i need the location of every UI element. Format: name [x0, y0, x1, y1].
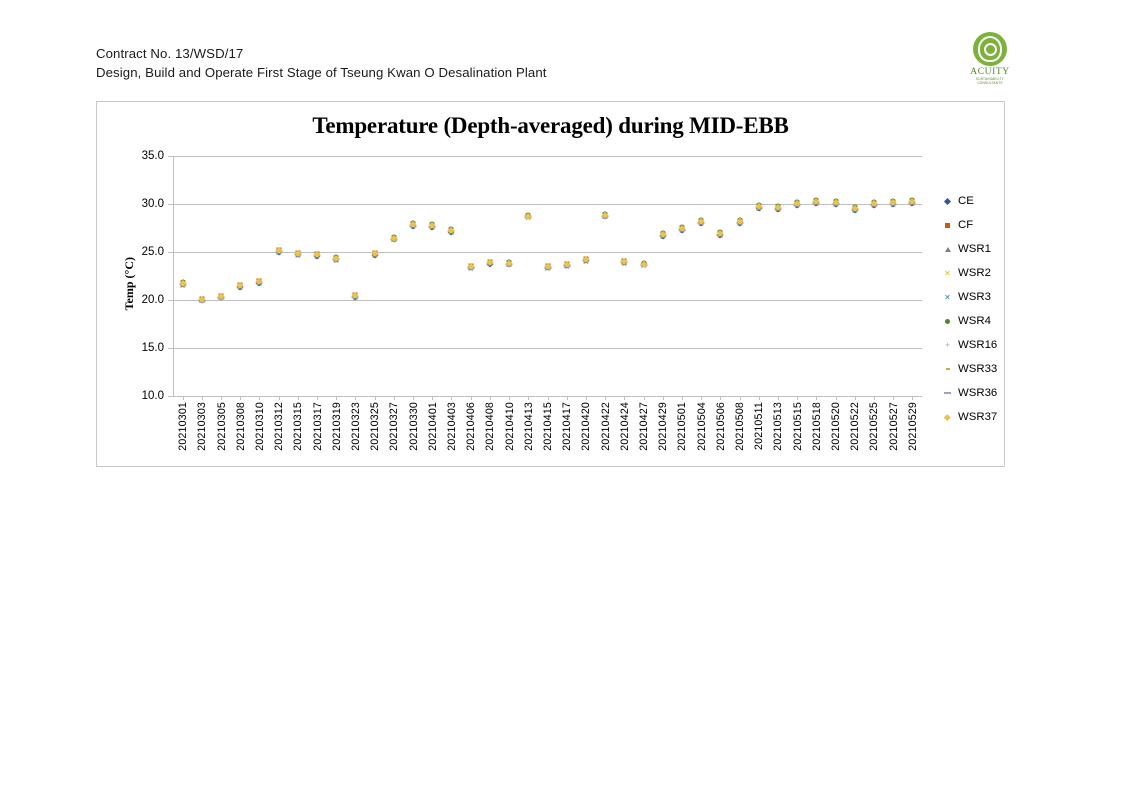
y-axis-tick-label: 20.0 [142, 294, 164, 306]
data-point: ✕ [678, 226, 685, 233]
data-point [641, 260, 646, 265]
x-axis-tick-label: 20210301 [177, 402, 189, 451]
legend-item-label: WSR16 [958, 339, 997, 351]
x-axis-tick [605, 396, 606, 400]
data-point: ✕ [774, 205, 781, 212]
x-axis-tick-label: 20210515 [792, 402, 804, 451]
data-point [314, 252, 320, 257]
x-axis-tick [816, 396, 817, 400]
data-point [640, 265, 647, 267]
data-point [429, 224, 435, 229]
data-point [238, 285, 242, 287]
x-axis-tick-label: 20210312 [273, 402, 285, 451]
data-point: ✕ [294, 252, 301, 259]
data-point: + [851, 205, 858, 212]
x-axis-tick-label: 20210415 [542, 402, 554, 451]
data-point [449, 229, 453, 231]
data-point [506, 264, 513, 266]
x-axis-tick [548, 396, 549, 400]
data-point [353, 295, 357, 297]
data-point [506, 260, 513, 267]
x-axis-tick [893, 396, 894, 400]
data-point: ✕ [582, 258, 589, 265]
y-axis-tick [168, 300, 173, 301]
x-axis-tick [509, 396, 510, 400]
legend-marker-icon: ✕ [942, 292, 953, 303]
x-axis-tick-label: 20210403 [446, 402, 458, 451]
data-point [256, 278, 262, 284]
data-point [219, 294, 224, 299]
data-point: ✕ [371, 252, 378, 259]
data-point [621, 257, 627, 263]
y-axis-title: Temp (°C) [122, 257, 137, 310]
data-point [660, 231, 665, 236]
data-point [814, 200, 818, 202]
data-point [468, 265, 474, 270]
data-point: ✕ [314, 252, 321, 259]
data-point: ✕ [525, 214, 532, 221]
data-point: ✕ [486, 261, 493, 268]
x-axis-tick-label: 20210325 [369, 402, 381, 451]
x-axis-tick-label: 20210504 [696, 402, 708, 451]
data-point [352, 296, 359, 298]
data-point: + [621, 258, 628, 265]
data-point [486, 263, 493, 265]
data-point: ✕ [506, 262, 513, 269]
data-point: ✕ [467, 266, 474, 273]
data-point [333, 255, 340, 262]
data-point [525, 212, 531, 218]
legend-item-wsr33[interactable]: WSR33 [942, 357, 1002, 381]
data-point [546, 267, 550, 269]
legend-marker-icon: ✕ [942, 268, 953, 279]
data-point [545, 264, 550, 269]
data-point: ✕ [563, 263, 570, 270]
data-point: + [506, 260, 513, 267]
x-axis-tick [451, 396, 452, 400]
data-point [449, 226, 454, 231]
data-point: + [333, 255, 340, 262]
data-point: + [467, 264, 474, 271]
logo-wordmark: ACUITY [966, 67, 1014, 77]
data-point [333, 259, 340, 261]
data-point [469, 267, 473, 269]
gridline [173, 300, 922, 301]
legend-marker-icon [942, 364, 953, 375]
data-point [603, 214, 607, 216]
data-point [736, 218, 742, 224]
data-point [315, 254, 319, 256]
data-point [487, 259, 492, 264]
x-axis-tick-label: 20210305 [216, 402, 228, 451]
data-point [776, 206, 780, 208]
data-point [814, 198, 819, 203]
x-axis-tick-label: 20210417 [561, 402, 573, 451]
data-point: ✕ [333, 256, 340, 263]
data-point [179, 284, 186, 286]
y-axis-line [173, 156, 174, 396]
data-point [333, 255, 339, 261]
x-axis-tick [259, 396, 260, 400]
data-point [737, 220, 743, 225]
data-point: + [563, 262, 570, 269]
data-point: ✕ [314, 253, 321, 260]
data-point: ✕ [602, 214, 609, 221]
data-point [622, 258, 627, 263]
data-point [699, 218, 704, 223]
x-axis-tick-label: 20210330 [408, 402, 420, 451]
data-point [640, 261, 647, 268]
data-point [487, 258, 493, 264]
x-axis-tick [644, 396, 645, 400]
data-point: ✕ [429, 225, 436, 232]
data-point: ✕ [717, 231, 724, 238]
data-point [678, 229, 685, 231]
data-point: ✕ [774, 206, 781, 213]
y-axis-tick-label: 15.0 [142, 342, 164, 354]
data-point [218, 295, 224, 300]
data-point [544, 268, 551, 270]
data-point [391, 236, 397, 241]
legend-marker-icon [942, 316, 953, 327]
data-point [544, 263, 550, 269]
data-point [218, 297, 225, 299]
data-point: + [736, 219, 743, 226]
data-point: ✕ [755, 204, 762, 211]
data-point [353, 293, 358, 298]
data-point [910, 198, 915, 203]
x-axis-tick [413, 396, 414, 400]
data-point [661, 233, 665, 235]
data-point [238, 282, 243, 287]
acuity-logo: ACUITY SUSTAINABILITY CONSULTANTS [966, 32, 1014, 82]
x-axis-tick [375, 396, 376, 400]
data-point [257, 278, 262, 283]
x-axis-tick-label: 20210518 [811, 402, 823, 451]
data-point [390, 239, 397, 241]
data-point: ✕ [256, 280, 263, 287]
data-point: + [602, 212, 609, 219]
x-axis-tick-label: 20210424 [619, 402, 631, 451]
data-point [333, 256, 339, 261]
data-point [755, 204, 762, 211]
data-point [853, 207, 857, 209]
data-point [603, 212, 608, 217]
data-point [371, 254, 378, 256]
data-point [180, 280, 185, 285]
data-point [237, 286, 244, 288]
data-point [219, 296, 223, 298]
data-point [564, 262, 569, 267]
data-point: ✕ [851, 207, 858, 214]
data-point: + [237, 282, 244, 289]
y-axis-tick [168, 396, 173, 397]
data-point [314, 255, 321, 257]
data-point [641, 262, 647, 267]
legend-item-wsr4[interactable]: WSR4 [942, 309, 1002, 333]
data-point: ✕ [736, 220, 743, 227]
contract-number-line: Contract No. 13/WSD/17 [96, 44, 547, 63]
gridline [173, 204, 922, 205]
data-point [218, 293, 224, 299]
x-axis-tick-label: 20210427 [638, 402, 650, 451]
x-axis-tick-label: 20210308 [235, 402, 247, 451]
x-axis-tick-label: 20210506 [715, 402, 727, 451]
data-point [736, 222, 743, 224]
data-point: ✕ [333, 257, 340, 264]
data-point [525, 214, 531, 219]
y-axis-tick-label: 35.0 [142, 150, 164, 162]
x-axis-tick-label: 20210319 [331, 402, 343, 451]
y-axis-tick-label: 25.0 [142, 246, 164, 258]
data-point [313, 252, 320, 259]
data-point [851, 206, 858, 213]
legend-item-label: CF [958, 219, 973, 231]
data-point [698, 220, 705, 227]
data-point [834, 201, 838, 203]
data-point [891, 201, 895, 203]
data-point [698, 220, 704, 225]
data-point: ✕ [179, 282, 186, 289]
data-point [238, 282, 243, 287]
x-axis-tick-label: 20210429 [657, 402, 669, 451]
legend-item-label: WSR1 [958, 243, 991, 255]
data-point [583, 256, 588, 261]
x-axis-tick [490, 396, 491, 400]
x-axis-tick [567, 396, 568, 400]
data-point [698, 222, 705, 224]
x-axis-tick [221, 396, 222, 400]
data-point [659, 235, 666, 237]
gridline [173, 252, 922, 253]
data-point [736, 220, 743, 227]
data-point: ✕ [486, 260, 493, 267]
data-point [737, 218, 742, 223]
data-point [487, 259, 492, 264]
x-axis-tick [202, 396, 203, 400]
data-point: + [179, 280, 186, 287]
data-point [737, 219, 742, 224]
data-point [448, 231, 455, 233]
data-point [660, 230, 665, 235]
data-point [468, 264, 473, 269]
x-axis-tick [912, 396, 913, 400]
data-point: + [256, 278, 263, 285]
data-point [699, 220, 703, 222]
data-point [660, 231, 666, 237]
legend-item-wsr37[interactable]: WSR37 [942, 405, 1002, 429]
x-axis-tick [663, 396, 664, 400]
x-axis-tick-label: 20210401 [427, 402, 439, 451]
data-point [373, 253, 377, 255]
legend-item-wsr2[interactable]: ✕WSR2 [942, 261, 1002, 285]
data-point [584, 259, 588, 261]
x-axis-tick [740, 396, 741, 400]
legend-item-label: WSR33 [958, 363, 997, 375]
project-title-line: Design, Build and Operate First Stage of… [96, 63, 547, 82]
data-point [602, 211, 608, 217]
chart-container: Temperature (Depth-averaged) during MID-… [96, 101, 1005, 467]
legend-marker-icon [942, 244, 953, 255]
legend-item-wsr3[interactable]: ✕WSR3 [942, 285, 1002, 309]
data-point [411, 222, 416, 227]
x-axis-tick-label: 20210422 [600, 402, 612, 451]
x-axis-tick [528, 396, 529, 400]
data-point [429, 223, 436, 230]
data-point [699, 219, 704, 224]
data-point [411, 221, 416, 226]
data-point [257, 278, 262, 283]
x-axis-tick [355, 396, 356, 400]
data-point: ✕ [621, 260, 628, 267]
data-point [851, 209, 858, 211]
x-axis-tick-label: 20210303 [196, 402, 208, 451]
data-point: ✕ [410, 224, 417, 231]
data-point [564, 262, 569, 267]
data-point: + [640, 261, 647, 268]
data-point [660, 232, 666, 237]
x-axis-tick-label: 20210527 [888, 402, 900, 451]
legend-item-wsr36[interactable]: WSR36 [942, 381, 1002, 405]
x-axis-tick [797, 396, 798, 400]
gridline [173, 156, 922, 157]
x-axis-tick-label: 20210511 [753, 402, 765, 450]
data-point [391, 234, 396, 239]
data-point [256, 279, 262, 284]
data-point [525, 213, 532, 220]
data-point: ✕ [467, 265, 474, 272]
x-axis-tick-label: 20210323 [350, 402, 362, 451]
x-axis-tick [240, 396, 241, 400]
x-axis-tick [279, 396, 280, 400]
x-axis-tick [874, 396, 875, 400]
x-axis-tick-label: 20210327 [388, 402, 400, 451]
legend-item-cf[interactable]: CF [942, 213, 1002, 237]
legend-item-wsr1[interactable]: WSR1 [942, 237, 1002, 261]
data-point [680, 227, 684, 229]
data-point [775, 204, 780, 209]
data-point [334, 257, 338, 259]
data-point [621, 262, 628, 264]
data-point: ✕ [256, 279, 263, 286]
data-point: ✕ [678, 227, 685, 234]
x-axis-tick [759, 396, 760, 400]
y-axis-tick-label: 30.0 [142, 198, 164, 210]
data-point: ✕ [448, 228, 455, 235]
data-point [738, 220, 742, 222]
legend-item-label: CE [958, 195, 974, 207]
data-point [774, 205, 781, 212]
data-point [430, 222, 435, 227]
data-point [294, 254, 301, 256]
data-point [180, 279, 185, 284]
x-axis-tick-label: 20210410 [504, 402, 516, 451]
data-point [467, 263, 473, 269]
data-point: ✕ [525, 215, 532, 222]
data-point [910, 200, 914, 202]
x-axis-tick [778, 396, 779, 400]
data-point [852, 205, 857, 210]
data-point: + [717, 230, 724, 237]
data-point: ✕ [659, 233, 666, 240]
data-point [352, 292, 358, 298]
x-axis-tick-label: 20210420 [580, 402, 592, 451]
x-axis-tick-label: 20210520 [830, 402, 842, 451]
data-point [582, 256, 589, 263]
data-point [622, 261, 626, 263]
data-point [679, 225, 685, 231]
data-point [718, 229, 723, 234]
data-point [852, 206, 858, 211]
data-point [602, 212, 609, 219]
x-axis-tick [682, 396, 683, 400]
x-axis-tick [183, 396, 184, 400]
data-point: ✕ [179, 281, 186, 288]
data-point: + [774, 204, 781, 211]
data-point [717, 234, 724, 236]
data-point [179, 280, 185, 286]
data-point [257, 281, 261, 283]
data-point [621, 258, 628, 265]
data-point [526, 212, 531, 217]
data-point [237, 281, 243, 287]
data-point [390, 235, 397, 242]
data-point: + [429, 223, 436, 230]
data-point: + [698, 219, 705, 226]
logo-subtext-line2: CONSULTANTS [966, 81, 1014, 85]
document-header: Contract No. 13/WSD/17 Design, Build and… [96, 44, 547, 82]
data-point [411, 223, 415, 225]
y-axis-tick [168, 348, 173, 349]
data-point [410, 225, 417, 227]
data-point: ✕ [698, 220, 705, 227]
legend-marker-icon: + [942, 340, 953, 351]
chart-legend: CECFWSR1✕WSR2✕WSR3WSR4+WSR16WSR33WSR36WS… [942, 189, 1002, 429]
gridline [173, 348, 922, 349]
data-point: ✕ [563, 264, 570, 271]
x-axis-tick [586, 396, 587, 400]
data-point [410, 221, 416, 227]
data-point [678, 226, 685, 233]
data-point [717, 231, 724, 238]
data-point: ✕ [640, 262, 647, 269]
data-point [391, 234, 397, 240]
legend-item-wsr16[interactable]: +WSR16 [942, 333, 1002, 357]
legend-item-label: WSR4 [958, 315, 991, 327]
data-point [449, 227, 454, 232]
x-axis-tick [701, 396, 702, 400]
data-point: ✕ [544, 266, 551, 273]
data-point [410, 223, 417, 230]
data-point: ✕ [429, 224, 436, 231]
data-point [526, 213, 531, 218]
data-point [563, 266, 570, 268]
data-point [698, 218, 704, 224]
data-point [507, 259, 512, 264]
data-point [544, 264, 551, 271]
x-axis-tick-label: 20210501 [676, 402, 688, 451]
y-axis-tick [168, 156, 173, 157]
data-point [296, 253, 300, 255]
data-point [679, 225, 684, 230]
data-point [582, 260, 589, 262]
legend-item-ce[interactable]: CE [942, 189, 1002, 213]
data-point [622, 258, 627, 263]
data-point: ✕ [755, 205, 762, 212]
data-point: + [678, 225, 685, 232]
data-point: ✕ [851, 206, 858, 213]
data-point [334, 254, 339, 259]
